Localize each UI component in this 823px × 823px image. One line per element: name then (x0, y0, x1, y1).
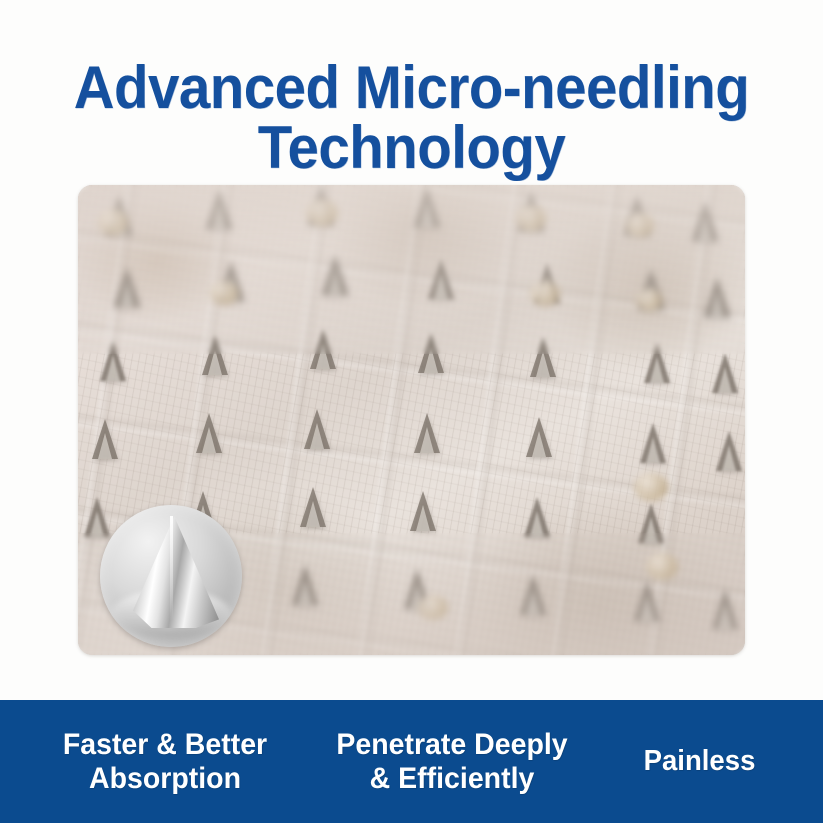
benefit-2-line-1: Penetrate Deeply (325, 728, 580, 762)
microneedle-zoom-inset (100, 505, 242, 647)
microneedle (196, 413, 222, 453)
benefit-1-line-1: Faster & Better (29, 728, 301, 762)
benefit-1-line-2: Absorption (29, 762, 301, 796)
page-title-line-1: Advanced Micro-needling (74, 54, 749, 121)
microneedle (410, 491, 436, 531)
microneedle (414, 413, 440, 453)
microneedle (92, 419, 118, 459)
microneedle (524, 497, 550, 537)
benefit-3-line-1: Painless (597, 745, 801, 777)
resin-droplet (634, 473, 668, 501)
microneedle (526, 417, 552, 457)
microneedle-photo (78, 185, 745, 655)
benefit-painless: Painless (597, 745, 801, 777)
benefit-2-line-2: & Efficiently (325, 762, 580, 796)
inset-needle-tip-highlight (170, 516, 173, 620)
benefit-penetrate-deeply: Penetrate Deeply & Efficiently (325, 728, 580, 795)
benefit-faster-better-absorption: Faster & Better Absorption (29, 728, 301, 795)
page-title-line-2: Technology (25, 118, 799, 178)
microneedle (84, 497, 110, 537)
microneedle (304, 409, 330, 449)
inset-needle-cone (133, 516, 219, 628)
microneedle (300, 487, 326, 527)
benefits-banner: Faster & Better Absorption Penetrate Dee… (0, 700, 823, 823)
microneedle (712, 353, 738, 393)
microneedle (716, 431, 742, 471)
microneedle (640, 423, 666, 463)
page-title: Advanced Micro-needling Technology (25, 58, 799, 178)
photo-depth-blur-top (78, 185, 745, 354)
